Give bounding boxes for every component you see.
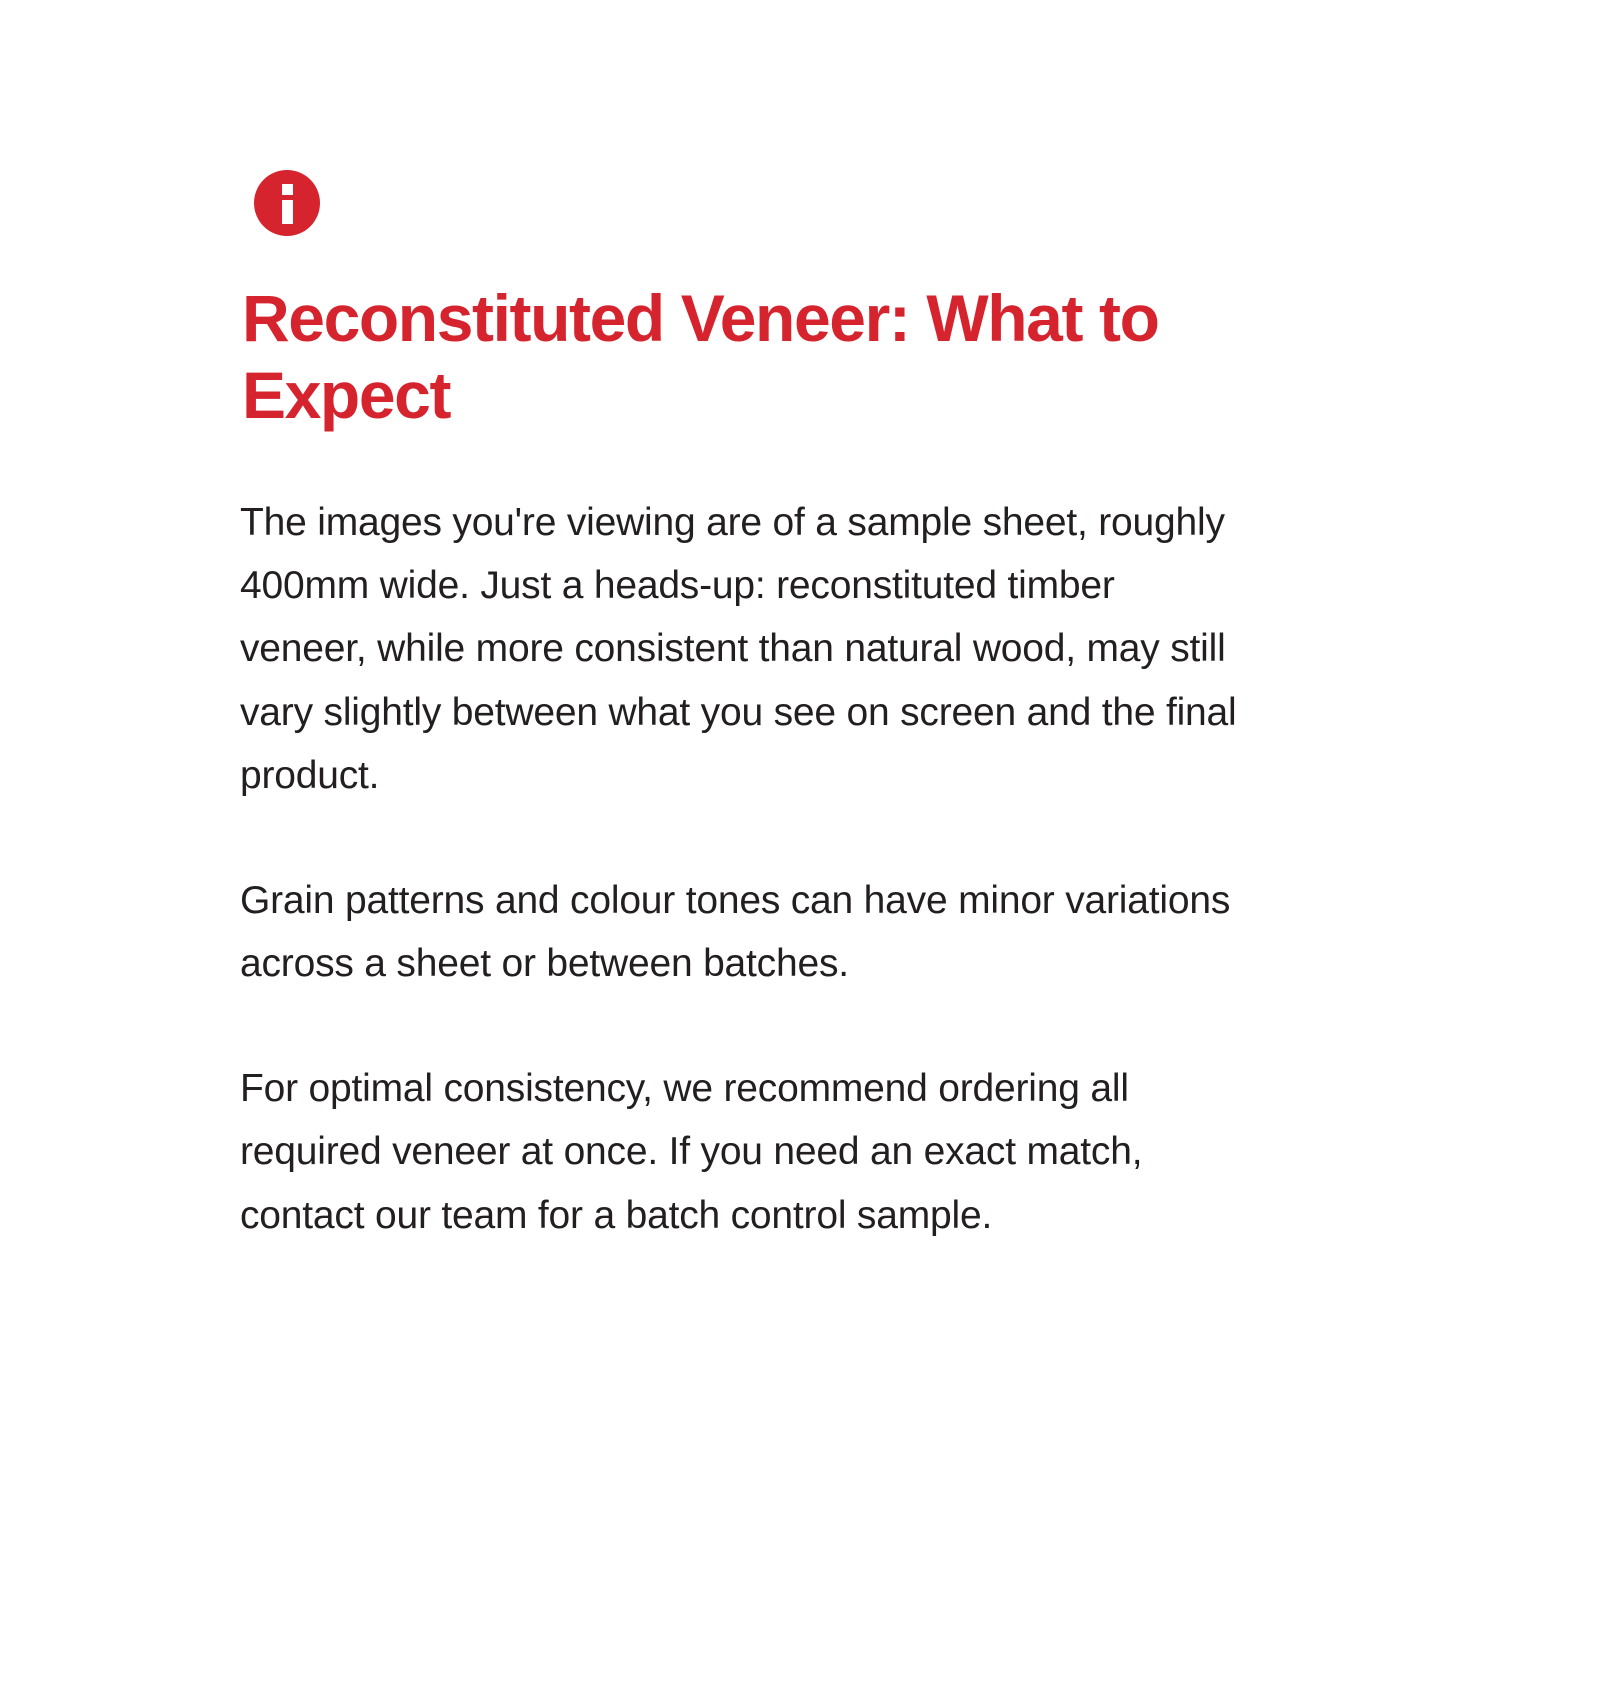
callout-paragraph-3: For optimal consistency, we recommend or… <box>240 1057 1240 1247</box>
veneer-info-callout: Reconstituted Veneer: What to Expect The… <box>240 170 1250 1247</box>
info-icon-dot <box>282 184 293 195</box>
page-root: Reconstituted Veneer: What to Expect The… <box>0 0 1620 1686</box>
info-icon-stem <box>282 200 293 224</box>
page-title: Reconstituted Veneer: What to Expect <box>242 280 1242 433</box>
callout-paragraph-1: The images you're viewing are of a sampl… <box>240 491 1240 807</box>
callout-paragraph-2: Grain patterns and colour tones can have… <box>240 869 1240 995</box>
info-circle-icon <box>254 170 320 236</box>
callout-body: The images you're viewing are of a sampl… <box>240 491 1240 1247</box>
